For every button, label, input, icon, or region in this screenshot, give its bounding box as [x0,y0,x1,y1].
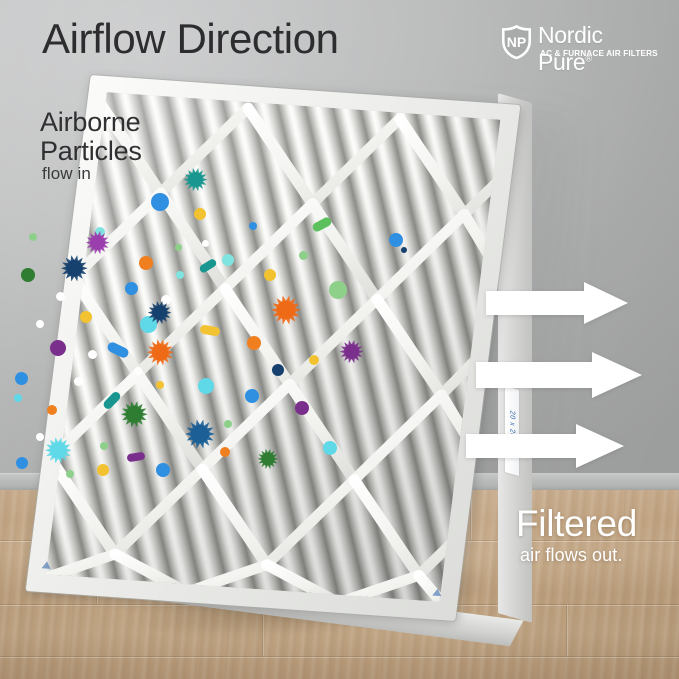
airflow-arrow-middle [476,352,642,398]
shield-icon: NP [500,24,533,60]
filtered-callout: Filtered [516,505,637,542]
airborne-line-1: Airborne [40,108,142,137]
brand-tagline: AC & FURNACE AIR FILTERS [540,49,658,58]
airflow-stamp-icon [432,588,442,598]
airflow-arrow-top [486,282,628,324]
airflow-stamp-icon [41,561,51,571]
filtered-sub-label: air flows out. [520,545,622,566]
airborne-sub-label: flow in [42,164,91,184]
airborne-particles-callout: Airborne Particles [40,108,142,166]
filter-media [46,92,501,602]
brand-logo[interactable]: NP Nordic Pure® AC & FURNACE AIR FILTERS [500,22,660,62]
svg-text:NP: NP [507,34,526,50]
infographic-scene: 20 x 20 x 1 Airflow Direction Airborne P… [0,0,679,679]
airborne-line-2: Particles [40,137,142,166]
filter-support-grid [46,92,501,602]
airflow-arrow-bottom [466,424,624,468]
page-title: Airflow Direction [42,18,339,60]
